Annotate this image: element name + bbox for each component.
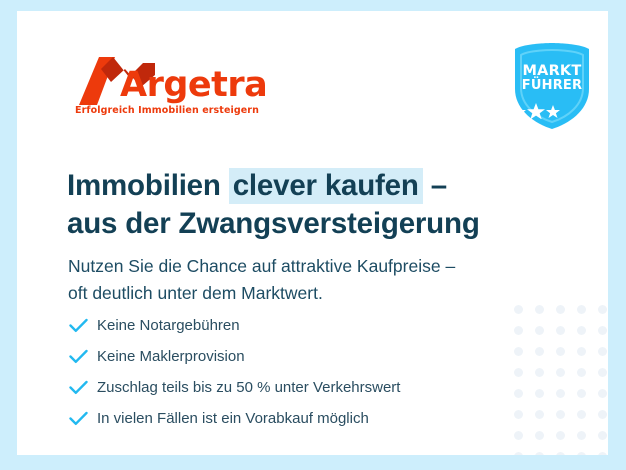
- market-leader-badge: MARKT FÜHRER: [509, 41, 595, 131]
- decorative-dot: [535, 431, 544, 440]
- argetra-logo: Argetra Erfolgreich Immobilien ersteiger…: [75, 55, 255, 119]
- list-item-label: Zuschlag teils bis zu 50 % unter Verkehr…: [97, 379, 400, 396]
- logo-wordmark: Argetra: [120, 68, 267, 103]
- badge-text-block: MARKT FÜHRER: [509, 64, 595, 93]
- page-headline: Immobilien clever kaufen – aus der Zwang…: [67, 167, 567, 243]
- decorative-dot: [577, 326, 586, 335]
- decorative-dot: [598, 410, 607, 419]
- headline-line-2: aus der Zwangsversteigerung: [67, 207, 480, 240]
- decorative-dot: [556, 389, 565, 398]
- headline-line-1-before: Immobilien: [67, 169, 229, 202]
- benefits-checklist: Keine Notargebühren Keine Maklerprovisio…: [69, 310, 529, 434]
- decorative-dot: [598, 347, 607, 356]
- decorative-dot: [535, 410, 544, 419]
- check-icon: [69, 380, 97, 395]
- decorative-dot: [556, 326, 565, 335]
- headline-highlight: clever kaufen: [229, 168, 423, 204]
- decorative-dot: [598, 431, 607, 440]
- decorative-dot: [535, 452, 544, 455]
- decorative-dot: [556, 410, 565, 419]
- subheadline-line-1: Nutzen Sie die Chance auf attraktive Kau…: [68, 256, 455, 276]
- badge-stars: [509, 103, 595, 119]
- page-border-frame: Argetra Erfolgreich Immobilien ersteiger…: [0, 0, 626, 470]
- decorative-dot: [556, 347, 565, 356]
- badge-line-1: MARKT: [509, 64, 595, 79]
- decorative-dot: [577, 410, 586, 419]
- list-item: Zuschlag teils bis zu 50 % unter Verkehr…: [69, 372, 529, 403]
- decorative-dot: [577, 452, 586, 455]
- check-icon: [69, 349, 97, 364]
- logo-tagline: Erfolgreich Immobilien ersteigern: [75, 105, 259, 116]
- badge-line-2: FÜHRER: [509, 79, 595, 93]
- decorative-dot: [577, 389, 586, 398]
- decorative-dot: [598, 368, 607, 377]
- decorative-dot: [598, 452, 607, 455]
- decorative-dot: [556, 368, 565, 377]
- decorative-dot: [577, 305, 586, 314]
- decorative-dot: [598, 389, 607, 398]
- decorative-dot: [535, 368, 544, 377]
- check-icon: [69, 411, 97, 426]
- list-item: Keine Maklerprovision: [69, 341, 529, 372]
- list-item-label: Keine Notargebühren: [97, 317, 240, 334]
- decorative-dot: [535, 389, 544, 398]
- decorative-dot: [598, 326, 607, 335]
- list-item-label: In vielen Fällen ist ein Vorabkauf mögli…: [97, 410, 369, 427]
- decorative-dot: [514, 452, 523, 455]
- list-item: Keine Notargebühren: [69, 310, 529, 341]
- page-subheadline: Nutzen Sie die Chance auf attraktive Kau…: [68, 253, 578, 308]
- decorative-dot: [535, 326, 544, 335]
- list-item: In vielen Fällen ist ein Vorabkauf mögli…: [69, 403, 529, 434]
- decorative-dot: [556, 452, 565, 455]
- subheadline-line-2: oft deutlich unter dem Marktwert.: [68, 283, 323, 303]
- decorative-dot: [577, 431, 586, 440]
- promo-card: Argetra Erfolgreich Immobilien ersteiger…: [17, 11, 608, 455]
- headline-line-1-after: –: [423, 169, 447, 202]
- list-item-label: Keine Maklerprovision: [97, 348, 245, 365]
- decorative-dot: [598, 305, 607, 314]
- decorative-dot: [577, 368, 586, 377]
- check-icon: [69, 318, 97, 333]
- decorative-dot: [556, 431, 565, 440]
- decorative-dot: [577, 347, 586, 356]
- decorative-dot: [535, 347, 544, 356]
